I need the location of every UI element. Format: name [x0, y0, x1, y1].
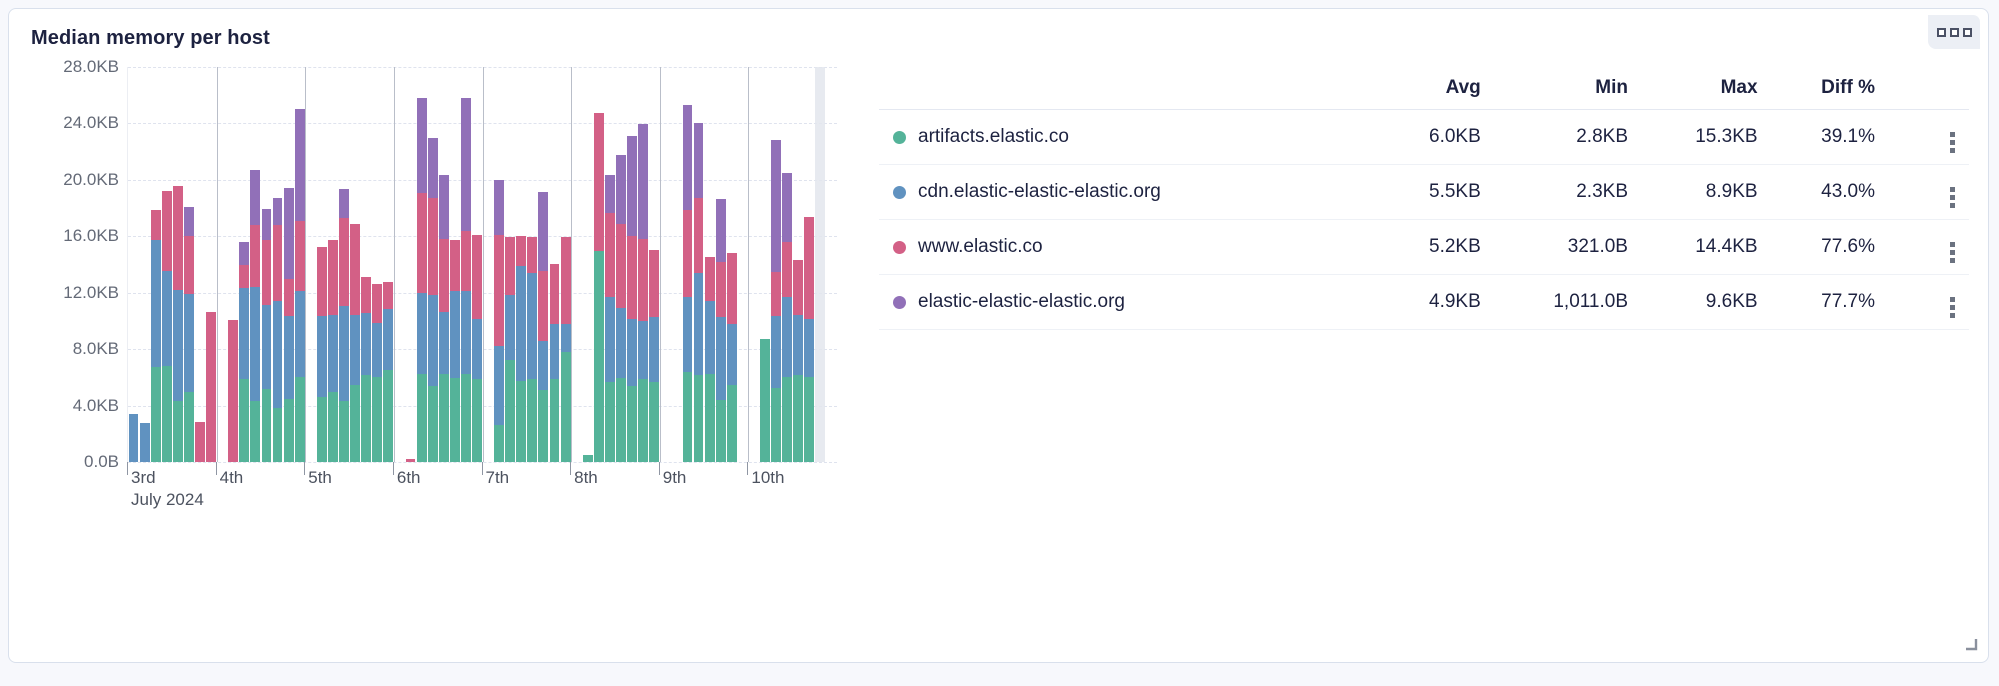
- bar-segment: [195, 422, 205, 462]
- bar-stack[interactable]: [594, 113, 604, 462]
- bar-segment: [561, 237, 571, 324]
- bar-segment: [284, 279, 294, 316]
- bar-segment: [372, 284, 382, 323]
- bar-segment: [239, 379, 249, 462]
- bar-segment: [605, 175, 615, 212]
- x-axis-tick-label: 4th: [220, 468, 244, 488]
- bar-segment: [538, 192, 548, 271]
- bar-segment: [804, 377, 814, 462]
- series-color-dot: [893, 241, 906, 254]
- day-separator: [483, 67, 484, 462]
- bar-stack[interactable]: [760, 339, 770, 462]
- legend-series-name-cell[interactable]: cdn.elastic-elastic-elastic.org: [879, 165, 1380, 220]
- bar-segment: [295, 221, 305, 291]
- bar-stack[interactable]: [782, 173, 792, 462]
- y-axis-tick-label: 28.0KB: [39, 57, 119, 77]
- bar-segment: [317, 397, 327, 462]
- bar-stack[interactable]: [184, 207, 194, 462]
- bar-stack[interactable]: [173, 186, 183, 462]
- bar-segment: [450, 240, 460, 291]
- bar-segment: [494, 180, 504, 235]
- bar-segment: [295, 377, 305, 462]
- bar-stack[interactable]: [550, 264, 560, 462]
- bar-segment: [162, 366, 172, 462]
- bar-segment: [627, 319, 637, 387]
- bar-stack[interactable]: [538, 192, 548, 462]
- bar-stack[interactable]: [450, 240, 460, 462]
- bar-segment: [793, 315, 803, 376]
- bar-segment: [383, 282, 393, 310]
- bar-segment: [162, 271, 172, 366]
- bar-segment: [361, 375, 371, 462]
- legend-diff-value: 77.7%: [1772, 275, 1889, 330]
- bar-segment: [439, 239, 449, 312]
- legend-col-diff[interactable]: Diff %: [1772, 71, 1889, 110]
- bar-segment: [439, 374, 449, 462]
- bar-segment: [538, 341, 548, 391]
- x-tick-line: [747, 462, 748, 475]
- bar-segment: [716, 400, 726, 462]
- bar-segment: [295, 109, 305, 221]
- bar-segment: [472, 235, 482, 319]
- bar-stack[interactable]: [505, 237, 515, 462]
- bar-segment: [683, 372, 693, 462]
- bar-segment: [250, 401, 260, 462]
- bar-segment: [550, 324, 560, 379]
- bar-stack[interactable]: [583, 455, 593, 462]
- bar-stack[interactable]: [716, 199, 726, 462]
- bar-segment: [638, 321, 648, 379]
- bar-segment: [439, 312, 449, 374]
- kebab-menu-icon[interactable]: [1950, 132, 1955, 153]
- bar-stack[interactable]: [605, 175, 615, 462]
- legend-max-value: 15.3KB: [1642, 110, 1772, 165]
- bar-segment: [428, 198, 438, 296]
- x-tick-line: [393, 462, 394, 475]
- y-axis-tick-label: 20.0KB: [39, 170, 119, 190]
- bar-stack[interactable]: [162, 191, 172, 462]
- bar-stack[interactable]: [516, 236, 526, 462]
- bar-segment: [494, 235, 504, 347]
- table-row[interactable]: artifacts.elastic.co6.0KB2.8KB15.3KB39.1…: [879, 110, 1969, 165]
- bar-segment: [793, 375, 803, 462]
- legend-max-value: 14.4KB: [1642, 220, 1772, 275]
- bar-stack[interactable]: [494, 180, 504, 462]
- x-tick-line: [482, 462, 483, 475]
- legend-min-value: 2.8KB: [1495, 110, 1642, 165]
- grid-menu-square-1: [1937, 28, 1946, 37]
- bar-segment: [461, 98, 471, 230]
- bar-stack[interactable]: [705, 257, 715, 462]
- legend-body: artifacts.elastic.co6.0KB2.8KB15.3KB39.1…: [879, 110, 1969, 330]
- bar-segment: [505, 295, 515, 360]
- legend-actions-cell[interactable]: [1889, 110, 1969, 165]
- legend-actions-cell[interactable]: [1889, 165, 1969, 220]
- bar-segment: [694, 273, 704, 375]
- kebab-menu-icon[interactable]: [1950, 242, 1955, 263]
- bar-segment: [527, 237, 537, 273]
- bar-segment: [516, 266, 526, 380]
- bar-segment: [627, 386, 637, 462]
- bar-segment: [350, 385, 360, 462]
- bar-segment: [694, 375, 704, 462]
- bar-segment: [461, 374, 471, 462]
- bar-stack[interactable]: [328, 240, 338, 462]
- table-row[interactable]: cdn.elastic-elastic-elastic.org5.5KB2.3K…: [879, 165, 1969, 220]
- day-separator: [394, 67, 395, 462]
- bar-segment: [262, 305, 272, 389]
- legend-min-value: 2.3KB: [1495, 165, 1642, 220]
- bar-stack[interactable]: [140, 423, 150, 462]
- resize-corner-icon[interactable]: [1962, 636, 1978, 652]
- x-tick-line: [659, 462, 660, 475]
- bar-stack[interactable]: [206, 312, 216, 462]
- bar-stack[interactable]: [694, 123, 704, 462]
- bar-stack[interactable]: [461, 98, 471, 462]
- legend-avg-value: 5.2KB: [1380, 220, 1494, 275]
- kebab-menu-icon[interactable]: [1950, 187, 1955, 208]
- bar-segment: [649, 317, 659, 382]
- bar-segment: [372, 377, 382, 462]
- bar-stack[interactable]: [262, 209, 272, 462]
- bar-segment: [727, 324, 737, 385]
- bar-segment: [173, 186, 183, 289]
- bar-segment: [284, 399, 294, 462]
- bar-segment: [417, 98, 427, 193]
- bar-segment: [605, 382, 615, 462]
- grid-menu-square-2: [1950, 28, 1959, 37]
- bar-segment: [638, 239, 648, 322]
- bar-stack[interactable]: [228, 320, 238, 462]
- bar-segment: [638, 124, 648, 238]
- bar-stack[interactable]: [804, 217, 814, 462]
- bar-segment: [184, 207, 194, 236]
- bar-segment: [527, 273, 537, 379]
- bar-segment: [228, 320, 238, 462]
- bar-stack[interactable]: [339, 189, 349, 462]
- bar-segment: [129, 414, 139, 462]
- bar-segment: [151, 367, 161, 462]
- table-row[interactable]: elastic-elastic-elastic.org4.9KB1,011.0B…: [879, 275, 1969, 330]
- bar-segment: [771, 272, 781, 316]
- bar-stack[interactable]: [793, 260, 803, 463]
- bar-segment: [538, 271, 548, 341]
- bar-segment: [616, 378, 626, 462]
- bar-segment: [417, 374, 427, 462]
- bar-segment: [361, 313, 371, 375]
- bar-segment: [428, 295, 438, 386]
- bar-segment: [538, 390, 548, 462]
- bar-segment: [350, 224, 360, 315]
- day-separator: [748, 67, 749, 462]
- bar-segment: [328, 315, 338, 392]
- bar-stack[interactable]: [273, 198, 283, 463]
- bar-segment: [771, 388, 781, 462]
- y-axis-tick-label: 16.0KB: [39, 226, 119, 246]
- bar-stack[interactable]: [472, 235, 482, 462]
- legend-max-value: 9.6KB: [1642, 275, 1772, 330]
- bar-segment: [284, 188, 294, 279]
- legend-diff-value: 77.6%: [1772, 220, 1889, 275]
- y-axis-tick-label: 4.0KB: [39, 396, 119, 416]
- bar-segment: [527, 379, 537, 462]
- bar-segment: [616, 224, 626, 308]
- bar-stack[interactable]: [372, 284, 382, 462]
- y-axis-tick-label: 12.0KB: [39, 283, 119, 303]
- bar-stack[interactable]: [361, 277, 371, 462]
- bar-stack[interactable]: [771, 140, 781, 462]
- day-separator: [217, 67, 218, 462]
- bar-segment: [250, 287, 260, 401]
- x-axis: 3rdJuly 20244th5th6th7th8th9th10th: [127, 462, 837, 517]
- bar-segment: [505, 360, 515, 462]
- bar-segment: [638, 379, 648, 462]
- bar-stack[interactable]: [561, 237, 571, 462]
- bar-stack[interactable]: [428, 138, 438, 462]
- legend-min-value: 321.0B: [1495, 220, 1642, 275]
- legend-col-actions: [1889, 71, 1969, 110]
- y-axis-tick-label: 0.0B: [39, 452, 119, 472]
- bar-segment: [683, 210, 693, 297]
- bar-segment: [616, 308, 626, 378]
- bar-segment: [273, 198, 283, 226]
- bar-stack[interactable]: [239, 242, 249, 462]
- legend-avg-value: 4.9KB: [1380, 275, 1494, 330]
- bar-segment: [317, 316, 327, 397]
- bar-segment: [516, 236, 526, 266]
- bar-segment: [383, 370, 393, 462]
- bar-segment: [450, 378, 460, 462]
- bar-segment: [151, 240, 161, 367]
- bar-segment: [339, 401, 349, 462]
- bar-chart: 3rdJuly 20244th5th6th7th8th9th10th 0.0B4…: [31, 67, 861, 517]
- bar-segment: [782, 377, 792, 462]
- kebab-menu-icon[interactable]: [1950, 297, 1955, 318]
- bar-segment: [250, 225, 260, 287]
- day-separator: [571, 67, 572, 462]
- legend-col-max[interactable]: Max: [1642, 71, 1772, 110]
- legend-series-name-cell[interactable]: artifacts.elastic.co: [879, 110, 1380, 165]
- x-tick-line: [304, 462, 305, 475]
- bar-segment: [494, 425, 504, 462]
- bar-stack[interactable]: [439, 175, 449, 462]
- series-label: www.elastic.co: [918, 236, 1043, 258]
- bar-segment: [361, 277, 371, 313]
- bar-segment: [550, 379, 560, 462]
- x-axis-tick-label: 6th: [397, 468, 421, 488]
- legend-col-name: [879, 71, 1380, 110]
- bar-stack[interactable]: [638, 124, 648, 462]
- bar-segment: [605, 297, 615, 382]
- partial-bucket-overlay: [815, 67, 825, 462]
- y-axis-tick-label: 24.0KB: [39, 113, 119, 133]
- bar-segment: [771, 140, 781, 272]
- x-axis-tick-label: 7th: [486, 468, 510, 488]
- grid-menu-icon[interactable]: [1928, 15, 1980, 49]
- bar-segment: [561, 352, 571, 462]
- series-color-dot: [893, 296, 906, 309]
- bar-segment: [804, 217, 814, 319]
- legend-table: Avg Min Max Diff % artifacts.elastic.co6…: [879, 71, 1969, 330]
- x-axis-tick-label: 8th: [574, 468, 598, 488]
- bar-segment: [328, 240, 338, 314]
- bar-segment: [505, 237, 515, 295]
- bar-segment: [439, 175, 449, 238]
- bar-stack[interactable]: [317, 247, 327, 462]
- bar-segment: [716, 262, 726, 317]
- legend-series-name-cell[interactable]: www.elastic.co: [879, 220, 1380, 275]
- bar-segment: [350, 315, 360, 385]
- bar-stack[interactable]: [627, 136, 637, 463]
- x-axis-tick-label: 9th: [663, 468, 687, 488]
- bar-stack[interactable]: [683, 105, 693, 462]
- bar-segment: [472, 319, 482, 380]
- bar-segment: [716, 199, 726, 262]
- bar-segment: [804, 319, 814, 377]
- bar-segment: [417, 193, 427, 292]
- bar-segment: [428, 386, 438, 462]
- series-color-dot: [893, 186, 906, 199]
- bar-stack[interactable]: [616, 155, 626, 462]
- bar-segment: [239, 265, 249, 288]
- bar-segment: [705, 301, 715, 374]
- bar-stack[interactable]: [284, 188, 294, 462]
- bar-segment: [561, 324, 571, 352]
- day-separator: [660, 67, 661, 462]
- legend-actions-cell[interactable]: [1889, 220, 1969, 275]
- bar-stack[interactable]: [527, 237, 537, 462]
- bar-segment: [417, 293, 427, 374]
- bar-segment: [383, 309, 393, 370]
- bar-segment: [173, 290, 183, 402]
- x-axis-tick-label: 3rd: [131, 468, 156, 488]
- bar-segment: [472, 379, 482, 462]
- y-axis-tick-label: 8.0KB: [39, 339, 119, 359]
- series-label: cdn.elastic-elastic-elastic.org: [918, 181, 1161, 203]
- bar-stack[interactable]: [195, 422, 205, 462]
- legend-diff-value: 43.0%: [1772, 165, 1889, 220]
- bar-segment: [782, 173, 792, 242]
- bar-segment: [461, 291, 471, 374]
- bar-stack[interactable]: [295, 109, 305, 462]
- bar-segment: [694, 123, 704, 197]
- bar-segment: [339, 189, 349, 218]
- legend-col-min[interactable]: Min: [1495, 71, 1642, 110]
- legend-min-value: 1,011.0B: [1495, 275, 1642, 330]
- bar-segment: [583, 455, 593, 462]
- bar-segment: [461, 231, 471, 292]
- bar-segment: [250, 170, 260, 225]
- bar-segment: [649, 382, 659, 462]
- x-axis-tick-label: 5th: [308, 468, 332, 488]
- x-tick-line: [127, 462, 128, 475]
- legend-actions-cell[interactable]: [1889, 275, 1969, 330]
- bar-segment: [727, 253, 737, 325]
- bar-segment: [273, 408, 283, 462]
- bar-segment: [339, 218, 349, 306]
- bar-stack[interactable]: [129, 414, 139, 462]
- bar-stack[interactable]: [350, 224, 360, 462]
- bar-stack[interactable]: [649, 250, 659, 462]
- series-color-dot: [893, 131, 906, 144]
- bar-segment: [262, 209, 272, 241]
- bar-segment: [494, 346, 504, 425]
- x-axis-tick-label: 10th: [751, 468, 784, 488]
- bar-segment: [239, 242, 249, 265]
- day-separator: [305, 67, 306, 462]
- bar-segment: [649, 250, 659, 318]
- bar-stack[interactable]: [250, 170, 260, 462]
- series-label: elastic-elastic-elastic.org: [918, 291, 1125, 313]
- bar-segment: [516, 381, 526, 462]
- x-tick-line: [216, 462, 217, 475]
- bar-stack[interactable]: [383, 282, 393, 462]
- bar-segment: [771, 316, 781, 388]
- series-label: artifacts.elastic.co: [918, 126, 1069, 148]
- bar-segment: [372, 323, 382, 377]
- bar-segment: [151, 210, 161, 240]
- bar-segment: [716, 317, 726, 400]
- bar-segment: [694, 198, 704, 274]
- plot-area: [127, 67, 837, 462]
- legend-avg-value: 6.0KB: [1380, 110, 1494, 165]
- bar-segment: [339, 306, 349, 401]
- bar-segment: [328, 392, 338, 462]
- bar-segment: [140, 423, 150, 462]
- bar-segment: [317, 247, 327, 316]
- bar-segment: [550, 264, 560, 325]
- bar-segment: [594, 113, 604, 251]
- bar-segment: [184, 236, 194, 294]
- legend-avg-value: 5.5KB: [1380, 165, 1494, 220]
- bar-segment: [683, 105, 693, 210]
- bar-segment: [284, 316, 294, 399]
- legend-series-name-cell[interactable]: elastic-elastic-elastic.org: [879, 275, 1380, 330]
- bar-segment: [605, 213, 615, 297]
- bar-segment: [173, 401, 183, 462]
- bar-segment: [782, 242, 792, 297]
- bar-segment: [705, 257, 715, 301]
- bar-segment: [616, 155, 626, 224]
- bar-segment: [428, 138, 438, 197]
- bar-segment: [262, 240, 272, 305]
- series-legend-table: Avg Min Max Diff % artifacts.elastic.co6…: [879, 71, 1969, 330]
- bar-segment: [705, 374, 715, 462]
- bar-segment: [262, 389, 272, 462]
- bar-segment: [760, 339, 770, 462]
- legend-col-avg[interactable]: Avg: [1380, 71, 1494, 110]
- bar-segment: [184, 392, 194, 462]
- table-row[interactable]: www.elastic.co5.2KB321.0B14.4KB77.6%: [879, 220, 1969, 275]
- bar-segment: [273, 225, 283, 301]
- bar-segment: [450, 291, 460, 378]
- legend-max-value: 8.9KB: [1642, 165, 1772, 220]
- bar-segment: [273, 301, 283, 408]
- x-axis-month-label: July 2024: [131, 490, 204, 510]
- bar-segment: [627, 136, 637, 237]
- bar-segment: [793, 260, 803, 315]
- bar-stack[interactable]: [417, 98, 427, 462]
- bar-stack[interactable]: [151, 210, 161, 462]
- visualization-panel: Median memory per host 3rdJuly 20244th5t…: [8, 8, 1989, 663]
- bar-segment: [782, 297, 792, 377]
- bar-segment: [594, 251, 604, 462]
- bar-stack[interactable]: [727, 253, 737, 462]
- bar-segment: [683, 297, 693, 373]
- bar-segment: [184, 294, 194, 392]
- bar-segment: [727, 385, 737, 462]
- x-tick-line: [570, 462, 571, 475]
